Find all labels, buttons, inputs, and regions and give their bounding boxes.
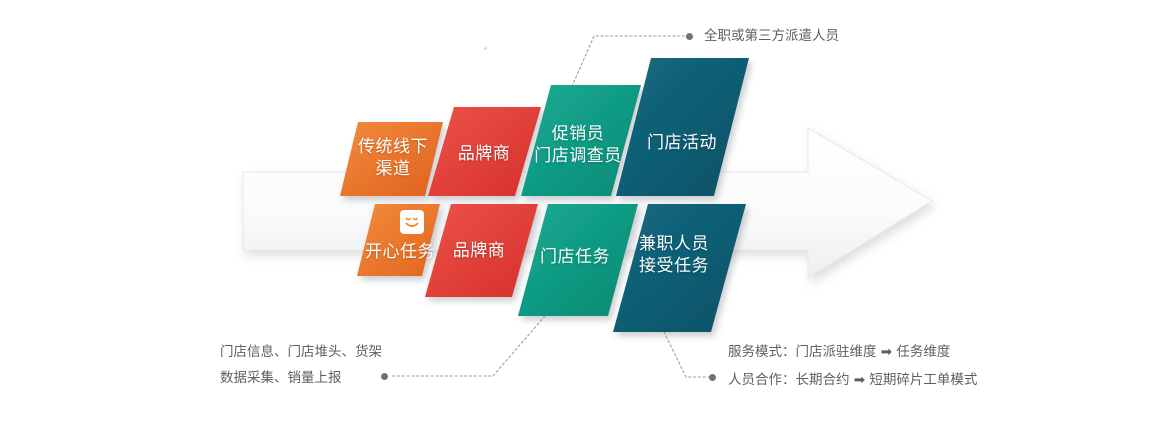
chevron-label-bottom-3: 门店任务 (527, 232, 623, 284)
chevron-label-top-1: 传统线下 渠道 (345, 124, 441, 194)
chevron-label-bottom-4: 兼职人员 接受任务 (622, 220, 726, 292)
chevron-label-top-4: 门店活动 (629, 94, 735, 194)
chevron-label-top-2: 品牌商 (438, 116, 530, 194)
chevron-label-bottom-2: 品牌商 (432, 228, 526, 276)
bottom-row-shapes (0, 0, 1150, 430)
cooperation-mode-note: 人员合作：长期合约 ➡ 短期碎片工单模式 (728, 368, 977, 394)
chevron-label-top-3: 促销员 门店调查员 (528, 100, 628, 192)
diagram-canvas: 传统线下 渠道 品牌商 促销员 门店调查员 门店活动 开心任务 品牌商 门店任务… (0, 0, 1150, 430)
service-mode-note: 服务模式：门店派驻维度 ➡ 任务维度 (728, 340, 950, 366)
staffing-note: 全职或第三方派遣人员 (704, 24, 839, 50)
data-collection-note: 门店信息、门店堆头、货架 数据采集、销量上报 (220, 340, 382, 391)
